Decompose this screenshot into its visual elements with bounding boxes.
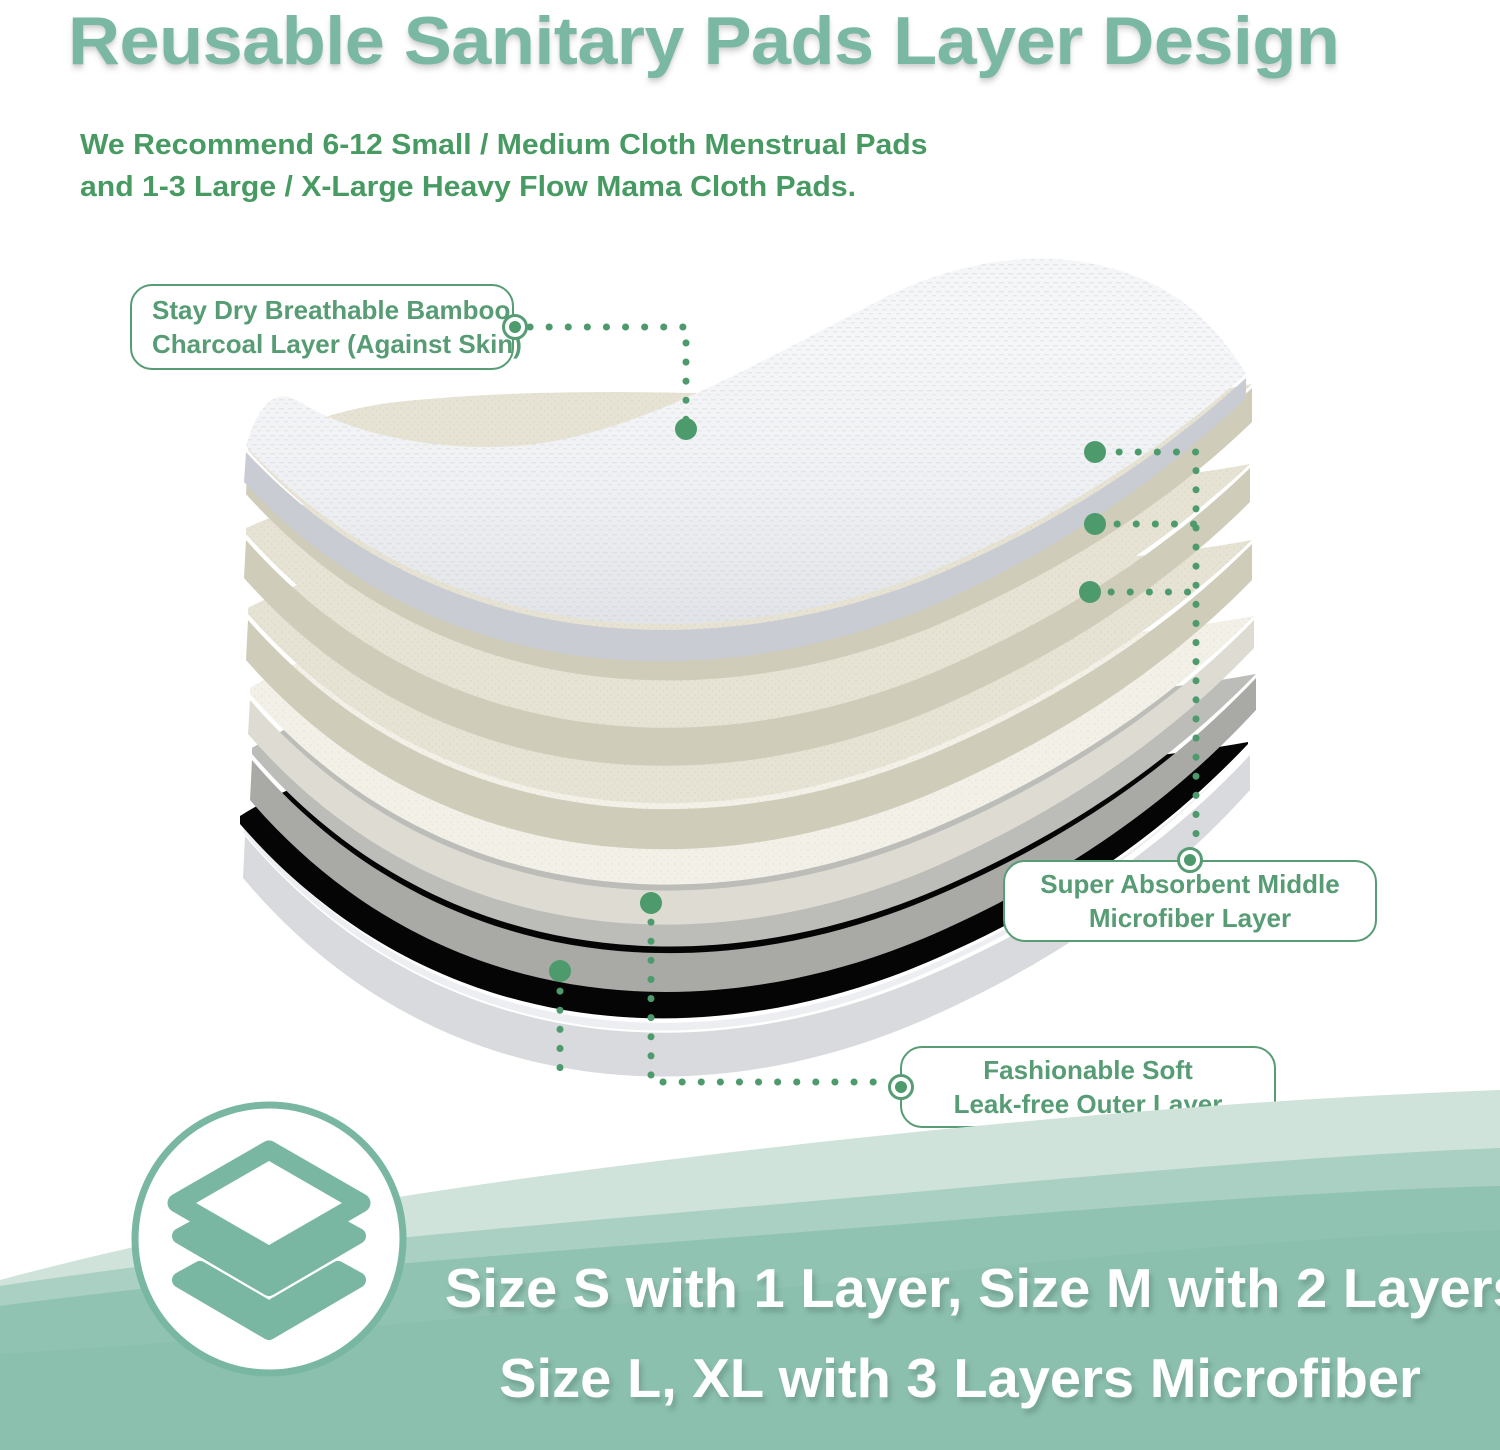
dot-black-layer: [549, 960, 571, 982]
layer-microfiber-2: [244, 464, 1250, 766]
dot-microfiber-1: [1084, 441, 1106, 463]
page-title: Reusable Sanitary Pads Layer Design: [68, 2, 1457, 80]
callout-mid-line-2: Microfiber Layer: [1019, 901, 1361, 935]
callout-top-line-1: Stay Dry Breathable Bamboo: [152, 293, 498, 327]
layer-microfiber-1: [246, 384, 1252, 680]
subtitle-line-1: We Recommend 6-12 Small / Medium Cloth M…: [80, 124, 1120, 166]
connector-lines: [530, 327, 1196, 1082]
callout-bot-line-1: Fashionable Soft: [916, 1053, 1260, 1087]
layers-stack-icon: [128, 1098, 410, 1380]
dot-grey-layer: [640, 892, 662, 914]
connector-microfiber-trunk: [1100, 452, 1196, 875]
callout-bamboo-charcoal-layer: Stay Dry Breathable Bamboo Charcoal Laye…: [130, 284, 514, 370]
connector-grey-layer: [651, 903, 886, 1082]
dot-top-layer: [675, 418, 697, 440]
callout-top-line-2: Charcoal Layer (Against Skin): [152, 327, 498, 361]
dot-microfiber-2: [1084, 513, 1106, 535]
subtitle-line-2: and 1-3 Large / X-Large Heavy Flow Mama …: [80, 166, 1120, 208]
layer-microfiber-3: [246, 540, 1252, 849]
subtitle-block: We Recommend 6-12 Small / Medium Cloth M…: [80, 124, 1120, 208]
dot-microfiber-3: [1079, 581, 1101, 603]
banner-line-1: Size S with 1 Layer, Size M with 2 Layer…: [445, 1243, 1475, 1333]
connector-ring-middle: [1177, 847, 1203, 873]
infographic-page: Reusable Sanitary Pads Layer Design We R…: [0, 0, 1500, 1450]
banner-text-block: Size S with 1 Layer, Size M with 2 Layer…: [445, 1243, 1475, 1423]
connector-ring-top: [502, 314, 528, 340]
connector-top-layer: [530, 327, 686, 428]
layer-grey-backing: [250, 674, 1256, 992]
banner-line-2: Size L, XL with 3 Layers Microfiber: [445, 1333, 1475, 1423]
